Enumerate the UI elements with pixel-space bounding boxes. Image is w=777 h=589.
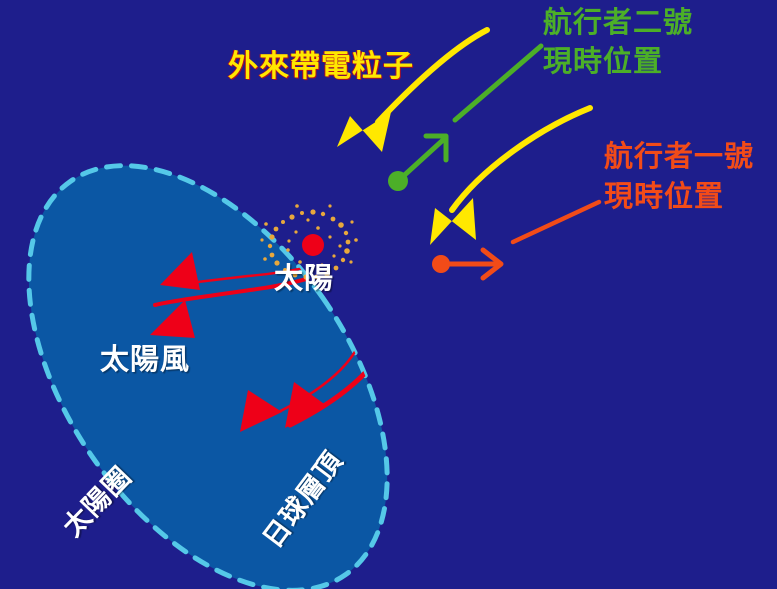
voyager1-label-line1: 航行者一號 <box>604 140 754 172</box>
voyager1-label-line2: 現時位置 <box>604 180 724 212</box>
solar-wind-label: 太陽風 <box>100 343 190 375</box>
voyager2-label-line2: 現時位置 <box>543 45 663 77</box>
sun-label: 太陽 <box>274 262 334 294</box>
voyager2-label-line1: 航行者二號 <box>543 6 693 38</box>
voyager1-leader-line <box>513 202 599 242</box>
voyager1-position-marker[interactable] <box>432 255 450 273</box>
incoming-particles-label: 外來帶電粒子 <box>228 50 414 84</box>
heliosphere-diagram: 外來帶電粒子 航行者二號 現時位置 航行者一號 現時位置 太陽 太陽風 太陽圈 … <box>0 0 777 589</box>
